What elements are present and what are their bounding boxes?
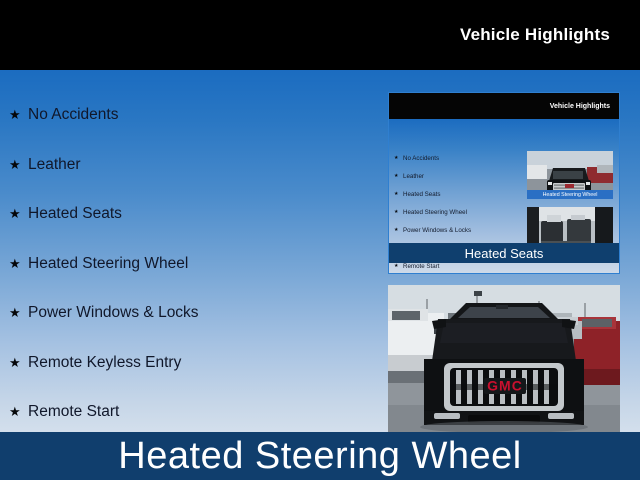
star-icon: ★: [9, 405, 28, 418]
list-item: ★ Leather: [394, 167, 524, 185]
star-icon: ★: [9, 257, 28, 270]
star-icon: ★: [394, 174, 403, 179]
vehicle-feature-list: ★ No Accidents ★ Leather ★ Heated Seats …: [0, 70, 386, 432]
gmc-suv-front-photo[interactable]: GMC: [388, 285, 620, 432]
star-icon: ★: [9, 108, 28, 121]
page-title: Vehicle Highlights: [460, 25, 610, 45]
star-icon: ★: [394, 192, 403, 197]
star-icon: ★: [9, 158, 28, 171]
list-item: ★ Power Windows & Locks: [394, 221, 524, 239]
list-item: ★ Heated Seats: [0, 189, 386, 239]
feature-label: Heated Steering Wheel: [28, 255, 188, 272]
feature-label: No Accidents: [403, 155, 439, 162]
thumbnail-photo-caption: Heated Steering Wheel: [527, 190, 613, 199]
list-item: ★ Heated Steering Wheel: [394, 203, 524, 221]
feature-label: No Accidents: [28, 106, 118, 123]
feature-label: Leather: [403, 173, 424, 180]
feature-label: Leather: [28, 156, 81, 173]
media-column: Vehicle Highlights ★ No Accidents ★ Leat…: [386, 70, 640, 432]
thumbnail-caption-bar: Heated Seats: [389, 243, 619, 263]
slide-caption-bar: Heated Steering Wheel: [0, 432, 640, 480]
list-item: ★ Remote Keyless Entry: [0, 338, 386, 388]
feature-label: Remote Start: [403, 263, 439, 270]
feature-label: Remote Start: [28, 403, 119, 420]
slide-caption-text: Heated Steering Wheel: [118, 437, 521, 475]
list-item: ★ Heated Seats: [394, 185, 524, 203]
feature-label: Heated Seats: [28, 205, 122, 222]
slide-thumbnail[interactable]: Vehicle Highlights ★ No Accidents ★ Leat…: [388, 92, 620, 274]
svg-text:GMC: GMC: [487, 378, 523, 394]
star-icon: ★: [394, 264, 403, 269]
slide-header: Vehicle Highlights: [0, 0, 640, 70]
list-item: ★ Remote Start: [0, 387, 386, 437]
list-item: ★ Heated Steering Wheel: [0, 239, 386, 289]
list-item: ★ No Accidents: [0, 90, 386, 140]
feature-label: Power Windows & Locks: [28, 304, 199, 321]
thumbnail-header: Vehicle Highlights: [389, 93, 619, 119]
list-item: ★ Leather: [0, 140, 386, 190]
star-icon: ★: [9, 306, 28, 319]
star-icon: ★: [394, 156, 403, 161]
star-icon: ★: [9, 207, 28, 220]
feature-label: Remote Keyless Entry: [28, 354, 181, 371]
star-icon: ★: [9, 356, 28, 369]
list-item: ★ Power Windows & Locks: [0, 288, 386, 338]
thumbnail-title: Vehicle Highlights: [550, 103, 610, 110]
vehicle-highlights-slide: Vehicle Highlights ★ No Accidents ★ Leat…: [0, 0, 640, 480]
feature-label: Heated Seats: [403, 191, 441, 198]
gmc-suv-front-photo[interactable]: Heated Steering Wheel: [527, 151, 613, 199]
star-icon: ★: [394, 228, 403, 233]
feature-label: Heated Steering Wheel: [403, 209, 467, 216]
star-icon: ★: [394, 210, 403, 215]
list-item: ★ No Accidents: [394, 149, 524, 167]
feature-label: Power Windows & Locks: [403, 227, 471, 234]
